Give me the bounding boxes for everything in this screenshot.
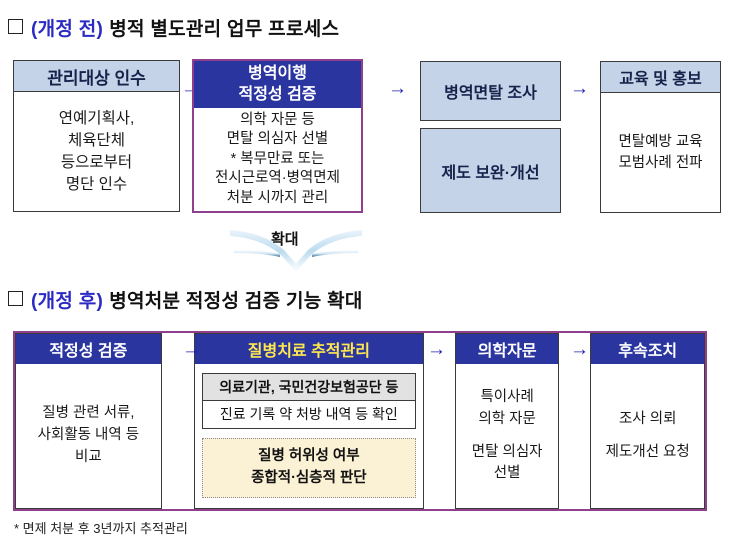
body-line: 모범사례 전파 <box>618 153 702 174</box>
body-line: 체육단체 <box>68 130 125 152</box>
section-before-title: 병적 별도관리 업무 프로세스 <box>109 19 339 40</box>
process-box-verification: 병역이행 적정성 검증 의학 자문 등 면탈 의심자 선별 * 복무만료 또는 … <box>192 59 363 213</box>
process-diagram-after: 적정성 검증 질병 관련 서류, 사회활동 내역 등 비교 질병치료 추적관리 … <box>13 331 707 511</box>
medical-records-box-header: 의료기관, 국민건강보험공단 등 <box>203 374 415 401</box>
medical-records-box: 의료기관, 국민건강보험공단 등 진료 기록 약 처방 내역 등 확인 <box>202 373 416 429</box>
after-column-follow-up: 후속조치 조사 의뢰 제도개선 요청 <box>590 333 705 509</box>
body-line: 면탈예방 교육 <box>618 132 702 153</box>
process-box-intake: 관리대상 인수 연예기획사, 체육단체 등으로부터 명단 인수 <box>13 60 180 212</box>
arrow-right-icon: → <box>427 340 446 359</box>
arrow-right-icon: → <box>388 79 407 98</box>
body-line: 처분 시까지 관리 <box>227 189 328 208</box>
section-after-title: 병역처분 적정성 검증 기능 확대 <box>109 291 362 312</box>
body-line: 질병 관련 서류, <box>42 403 134 425</box>
process-box-verification-body: 의학 자문 등 면탈 의심자 선별 * 복무만료 또는 전시근로역·병역면제 처… <box>194 108 361 211</box>
process-box-investigation-header: 병역면탈 조사 <box>421 62 560 120</box>
after-column-medical-advice: 의학자문 특이사례 의학 자문 면탈 의심자 선별 <box>455 333 559 509</box>
section-before-paren-label: (개정 전) <box>31 19 103 40</box>
body-line: 의학 자문 <box>478 409 535 431</box>
footnote: * 면제 처분 후 3년까지 추적관리 <box>14 518 188 537</box>
after-column-medical-advice-header: 의학자문 <box>456 334 558 364</box>
body-line: 사회활동 내역 등 <box>38 425 139 447</box>
after-column-adequacy-verification-header: 적정성 검증 <box>16 334 161 364</box>
body-line: 등으로부터 <box>61 152 132 174</box>
process-box-investigation: 병역면탈 조사 <box>420 61 561 121</box>
process-box-education: 교육 및 홍보 면탈예방 교육 모범사례 전파 <box>600 61 721 213</box>
after-column-adequacy-verification-body: 질병 관련 서류, 사회활동 내역 등 비교 <box>16 364 161 508</box>
arrow-right-icon: → <box>182 340 201 359</box>
process-box-intake-body: 연예기획사, 체육단체 등으로부터 명단 인수 <box>14 92 179 211</box>
section-after-paren-label: (개정 후) <box>31 291 103 312</box>
body-line: 종합적·심층적 판단 <box>203 467 415 489</box>
body-line: * 복무만료 또는 <box>231 150 325 169</box>
body-line: 연예기획사, <box>59 108 135 130</box>
after-column-follow-up-body: 조사 의뢰 제도개선 요청 <box>591 364 704 508</box>
body-line: 질병 허위성 여부 <box>203 445 415 467</box>
process-box-system-improvement: 제도 보완·개선 <box>420 128 561 213</box>
body-line: 전시근로역·병역면제 <box>215 169 340 188</box>
body-line: 제도개선 요청 <box>606 442 690 464</box>
process-box-system-improvement-header: 제도 보완·개선 <box>421 129 560 212</box>
process-box-intake-header: 관리대상 인수 <box>14 61 179 92</box>
arrow-right-icon: → <box>570 340 589 359</box>
process-box-verification-header: 병역이행 적정성 검증 <box>194 61 361 108</box>
process-box-education-body: 면탈예방 교육 모범사례 전파 <box>601 93 720 212</box>
body-line: 면탈 의심자 선별 <box>227 130 328 149</box>
body-line: 면탈 의심자 <box>472 442 543 464</box>
judgement-highlight-box: 질병 허위성 여부 종합적·심층적 판단 <box>202 438 416 498</box>
body-line: 조사 의뢰 <box>619 409 676 431</box>
after-column-disease-tracking-header: 질병치료 추적관리 <box>195 334 423 364</box>
after-column-disease-tracking: 질병치료 추적관리 의료기관, 국민건강보험공단 등 진료 기록 약 처방 내역… <box>194 333 424 509</box>
section-heading-after: (개정 후)병역처분 적정성 검증 기능 확대 <box>8 286 363 313</box>
body-line: 선별 <box>494 463 521 485</box>
body-line: 명단 인수 <box>66 174 127 196</box>
arrow-right-icon: → <box>570 79 589 98</box>
process-box-education-header: 교육 및 홍보 <box>601 62 720 93</box>
medical-records-box-body: 진료 기록 약 처방 내역 등 확인 <box>203 401 415 428</box>
after-column-follow-up-header: 후속조치 <box>591 334 704 364</box>
body-line: 비교 <box>75 447 102 469</box>
empty-checkbox-icon <box>8 291 23 306</box>
header-line: 적정성 검증 <box>238 85 316 105</box>
empty-checkbox-icon <box>8 19 23 34</box>
after-column-adequacy-verification: 적정성 검증 질병 관련 서류, 사회활동 내역 등 비교 <box>15 333 162 509</box>
body-line: 특이사례 <box>480 387 533 409</box>
header-line: 병역이행 <box>248 64 307 84</box>
body-line: 의학 자문 등 <box>240 111 315 130</box>
after-column-medical-advice-body: 특이사례 의학 자문 면탈 의심자 선별 <box>456 364 558 508</box>
section-heading-before: (개정 전)병적 별도관리 업무 프로세스 <box>8 14 339 41</box>
after-column-disease-tracking-body: 의료기관, 국민건강보험공단 등 진료 기록 약 처방 내역 등 확인 질병 허… <box>195 364 423 508</box>
expand-connector-label: 확대 <box>271 228 299 249</box>
